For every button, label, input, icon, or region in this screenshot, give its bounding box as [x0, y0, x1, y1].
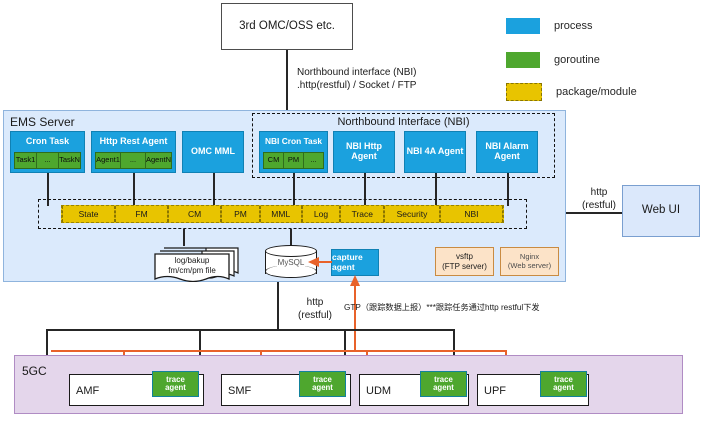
goroutine-agent1[interactable]: Agent1	[95, 152, 121, 169]
capture-agent-label-line1: capture agent	[332, 253, 378, 271]
southbound-http-line	[277, 282, 279, 329]
nbi-connector-label: Northbound interface (NBI) .http(restful…	[297, 66, 507, 92]
trace-agent-udm[interactable]: trace agent	[420, 371, 467, 397]
legend-item-package: package/module	[506, 84, 637, 100]
goroutine-taskn[interactable]: TaskN	[59, 152, 81, 169]
trace-agent-upf-line2: agent	[553, 384, 574, 392]
capture-to-database-arrow-line	[317, 261, 332, 263]
nf-amf-label: AMF	[76, 384, 99, 399]
server-vsftp[interactable]: vsftp (FTP server)	[435, 247, 494, 276]
core-5gc-title: 5GC	[22, 364, 47, 380]
process-nbi-http-agent[interactable]: NBI Http Agent	[333, 131, 395, 173]
trace-agent-upf[interactable]: trace agent	[540, 371, 587, 397]
process-omc-mml[interactable]: OMC MML	[182, 131, 244, 173]
southbound-http-label: http (restful)	[286, 296, 344, 322]
module-cm[interactable]: CM	[168, 206, 221, 222]
goroutine-agent-ellipsis[interactable]: ...	[121, 152, 146, 169]
trace-agent-smf-line2: agent	[312, 384, 333, 392]
capture-to-database-arrowhead	[308, 256, 319, 268]
process-http-rest-agent-label: Http Rest Agent	[92, 132, 175, 151]
module-nbi[interactable]: NBI	[440, 206, 503, 222]
server-nginx-line2: (Web server)	[508, 262, 551, 271]
file-store-label-line1: log/bakup	[155, 256, 229, 267]
trace-uplink-line-lower	[354, 343, 356, 351]
goroutine-nbi-pm[interactable]: PM	[284, 152, 304, 169]
legend-label-process: process	[554, 20, 593, 32]
nbi-connector-line1: Northbound interface (NBI)	[297, 66, 507, 79]
goroutine-task-ellipsis[interactable]: ...	[37, 152, 59, 169]
legend-label-package: package/module	[556, 86, 637, 98]
process-cron-task[interactable]: Cron Task Task1 ... TaskN	[10, 131, 85, 173]
legend-swatch-process	[506, 18, 540, 34]
goroutine-task1[interactable]: Task1	[14, 152, 37, 169]
process-nbi-cron-task[interactable]: NBI Cron Task CM PM ...	[259, 131, 328, 173]
process-cron-task-label: Cron Task	[11, 132, 84, 151]
goroutine-nbi-ellipsis[interactable]: ...	[304, 152, 324, 169]
southbound-http-line2: (restful)	[286, 309, 344, 322]
module-state[interactable]: State	[62, 206, 115, 222]
process-omc-mml-label: OMC MML	[191, 147, 235, 157]
legend-swatch-package	[506, 83, 542, 101]
process-nbi-http-agent-label: NBI Http Agent	[334, 142, 394, 161]
southbound-bus-line	[46, 329, 454, 331]
server-nginx[interactable]: Nginx (Web server)	[500, 247, 559, 276]
nbi-connector-line2: .http(restful) / Socket / FTP	[297, 79, 507, 92]
web-ui-node[interactable]: Web UI	[622, 185, 700, 237]
goroutine-nbi-cm[interactable]: CM	[263, 152, 284, 169]
process-nbi-cron-task-label: NBI Cron Task	[260, 132, 327, 151]
file-store-label-line2: fm/cm/pm file	[155, 266, 229, 277]
legend-item-goroutine: goroutine	[506, 52, 600, 68]
module-bar: State FM CM PM MML Log Trace Security NB…	[61, 205, 504, 223]
process-nbi-alarm-agent-label: NBI Alarm Agent	[477, 142, 537, 161]
nbi-group-title: Northbound Interface (NBI)	[252, 115, 555, 129]
legend-swatch-goroutine	[506, 52, 540, 68]
connector-modules-to-database	[290, 229, 292, 246]
trace-agent-smf[interactable]: trace agent	[299, 371, 346, 397]
module-security[interactable]: Security	[384, 206, 440, 222]
gtp-note: GTP（跟踪数据上报）***跟踪任务通过http restful下发	[344, 303, 694, 314]
module-log[interactable]: Log	[302, 206, 341, 222]
webui-connector-line1: http	[573, 186, 625, 199]
file-store[interactable]: log/bakup fm/cm/pm file	[152, 244, 248, 282]
trace-bus-line	[51, 350, 506, 352]
southbound-http-line1: http	[286, 296, 344, 309]
capture-agent[interactable]: capture agent	[331, 249, 379, 276]
process-nbi-4a-agent-label: NBI 4A Agent	[407, 147, 464, 157]
server-vsftp-line2: (FTP server)	[442, 262, 487, 271]
nbi-connector-line	[286, 50, 288, 112]
module-trace[interactable]: Trace	[340, 206, 384, 222]
trace-agent-amf[interactable]: trace agent	[152, 371, 199, 397]
trace-agent-amf-line2: agent	[165, 384, 186, 392]
third-party-omc-oss-node[interactable]: 3rd OMC/OSS etc.	[221, 3, 353, 50]
web-ui-label: Web UI	[642, 203, 680, 218]
trace-uplink-arrowhead	[349, 275, 361, 286]
process-http-rest-agent[interactable]: Http Rest Agent Agent1 ... AgentN	[91, 131, 176, 173]
legend-item-process: process	[506, 18, 593, 34]
module-fm[interactable]: FM	[115, 206, 168, 222]
webui-connector-line2: (restful)	[573, 199, 625, 212]
server-vsftp-line1: vsftp	[456, 252, 473, 261]
goroutine-agentn[interactable]: AgentN	[146, 152, 172, 169]
nf-upf-label: UPF	[484, 384, 506, 399]
webui-connector-label: http (restful)	[573, 186, 625, 212]
module-pm[interactable]: PM	[221, 206, 260, 222]
process-nbi-4a-agent[interactable]: NBI 4A Agent	[404, 131, 466, 173]
process-nbi-alarm-agent[interactable]: NBI Alarm Agent	[476, 131, 538, 173]
ems-server-title: EMS Server	[10, 115, 75, 131]
legend-label-goroutine: goroutine	[554, 54, 600, 66]
third-party-omc-oss-label: 3rd OMC/OSS etc.	[239, 19, 335, 34]
nf-smf-label: SMF	[228, 384, 251, 399]
nf-udm-label: UDM	[366, 384, 391, 399]
trace-agent-udm-line2: agent	[433, 384, 454, 392]
module-mml[interactable]: MML	[260, 206, 302, 222]
